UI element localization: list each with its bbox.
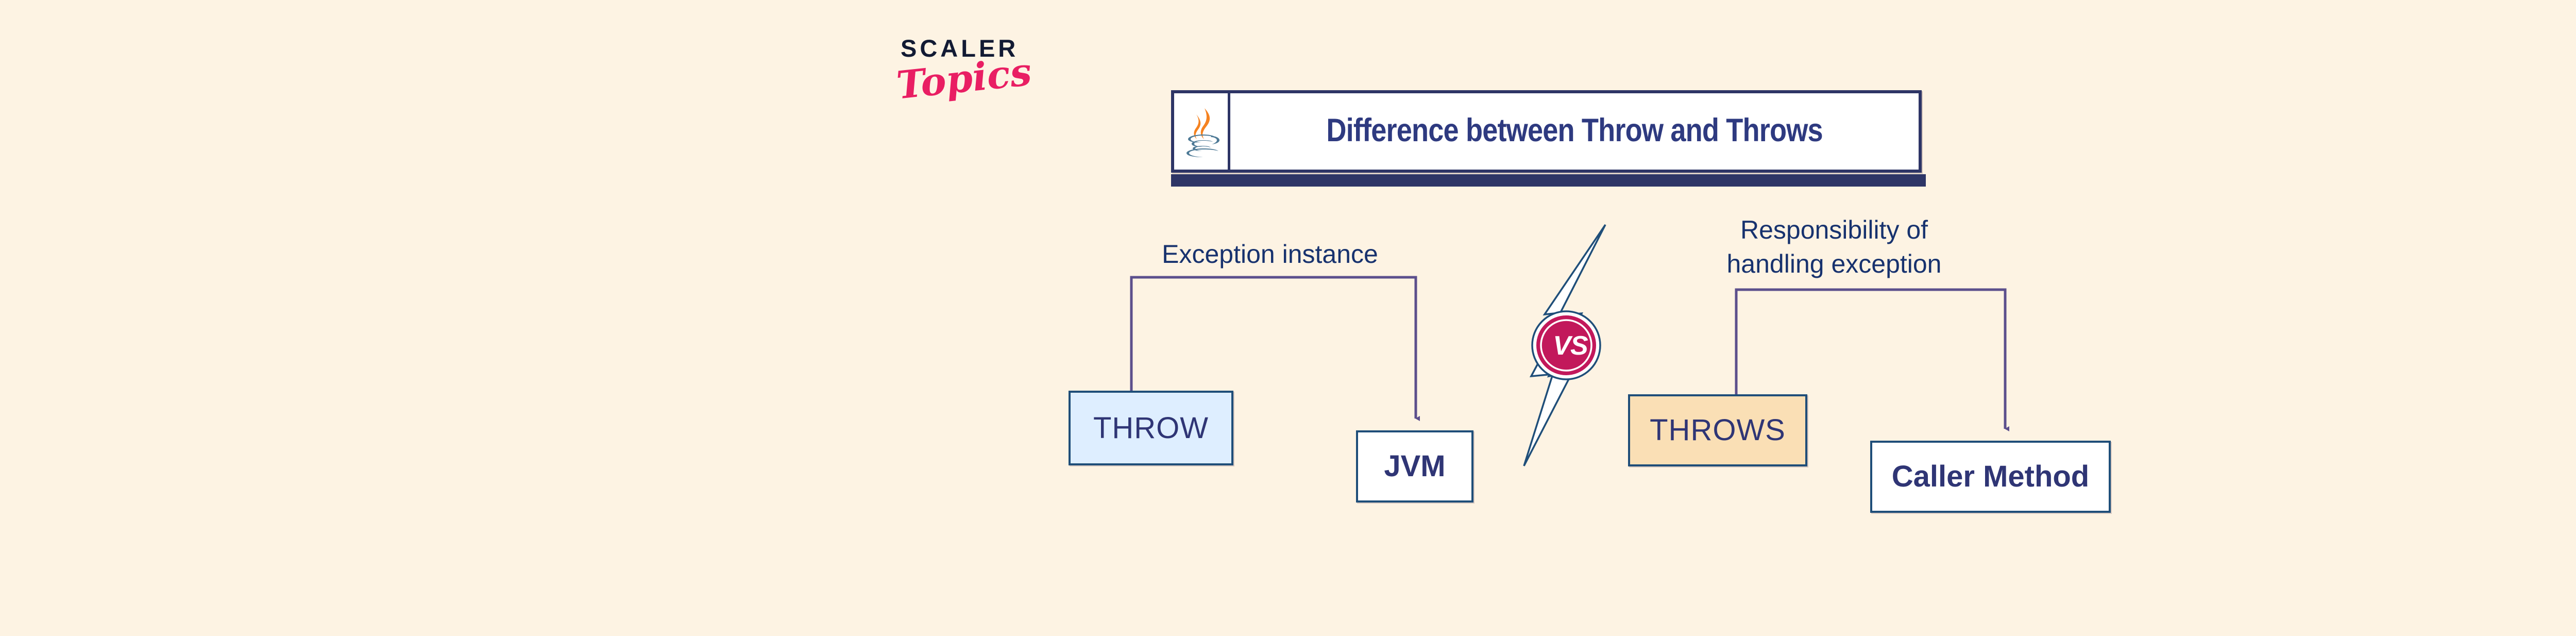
vs-badge-label: VS xyxy=(1553,330,1587,361)
edge-label-responsibility-line2: handling exception xyxy=(1710,247,1958,281)
edge-label-exception-instance: Exception instance xyxy=(1149,237,1391,271)
node-caller-method-label: Caller Method xyxy=(1892,462,2090,492)
edge-label-exception-instance-text: Exception instance xyxy=(1162,240,1378,269)
node-jvm-label: JVM xyxy=(1384,451,1445,481)
node-throws: THROWS xyxy=(1628,394,1807,466)
title-bar-accent-bar xyxy=(1171,174,1926,187)
node-jvm: JVM xyxy=(1356,430,1473,503)
vs-comparison-badge: VS xyxy=(1510,222,1618,469)
title-bar-text-cell: Difference between Throw and Throws xyxy=(1230,93,1919,170)
node-throws-label: THROWS xyxy=(1650,415,1786,445)
node-caller-method: Caller Method xyxy=(1870,441,2111,513)
edge-label-responsibility-line1: Responsibility of xyxy=(1710,213,1958,247)
diagram-canvas: SCALER Topics Difference between Throw a… xyxy=(0,0,2576,636)
title-bar-icon-cell xyxy=(1174,93,1230,170)
vs-badge-label-wrap: VS xyxy=(1510,222,1618,469)
scaler-topics-logo: SCALER Topics xyxy=(896,36,1030,129)
node-throw-label: THROW xyxy=(1093,413,1209,443)
title-bar: Difference between Throw and Throws xyxy=(1171,90,1922,173)
node-throw: THROW xyxy=(1069,391,1233,465)
java-logo-icon xyxy=(1179,103,1223,160)
page-title: Difference between Throw and Throws xyxy=(1326,112,1822,149)
edge-label-responsibility: Responsibility of handling exception xyxy=(1710,213,1958,281)
